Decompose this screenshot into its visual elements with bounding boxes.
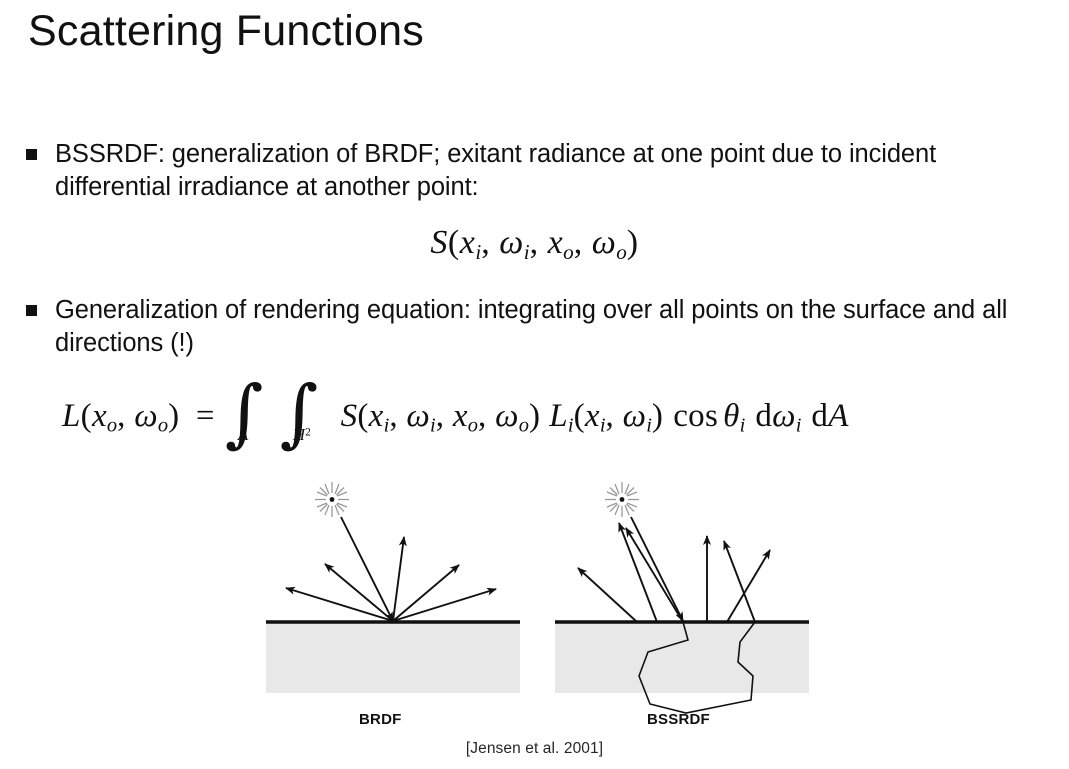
formula-s-paren-close: ) [627, 224, 639, 261]
square-bullet-icon [26, 305, 37, 316]
formula-l-s-omega-o: ω [495, 398, 519, 434]
bssrdf-exit-ray-1 [578, 568, 637, 622]
formula-l-comma-1: , [117, 398, 134, 434]
formula-l-s-paren-close: ) [529, 398, 540, 434]
formula-s-omega-i: ω [499, 224, 524, 261]
formula-s-omega-o: ω [592, 224, 617, 261]
formula-s-x-i: x [460, 224, 476, 261]
formula-l-d-omega-sub: i [796, 415, 802, 437]
formula-l-li-paren-close: ) [652, 398, 663, 434]
bullet-item-1-label: BSSRDF: generalization of BRDF; exitant … [55, 138, 1036, 204]
formula-l-cos: cos [673, 398, 718, 434]
formula-l-x-o-sub: o [107, 415, 117, 437]
formula-l-s-symbol: S [341, 398, 358, 434]
figure-citation: [Jensen et al. 2001] [0, 740, 1069, 758]
formula-scattering-function: S(xi, ωi, xo, ωo) [0, 224, 1069, 265]
bssrdf-exit-ray-2 [619, 523, 657, 622]
brdf-incident-ray [341, 517, 393, 621]
formula-l-s-comma-3: , [478, 398, 495, 434]
brdf-reflected-ray-5 [393, 589, 496, 621]
integral-limit-area: A [238, 426, 249, 443]
formula-l-d-omega: d [755, 398, 772, 434]
formula-l-paren-close: ) [168, 398, 179, 434]
formula-l-li-x-i: x [585, 398, 600, 434]
bssrdf-panel [555, 482, 809, 713]
formula-s-comma-3: , [574, 224, 592, 261]
formula-l-theta: θ [723, 398, 740, 434]
formula-l-s-comma-1: , [389, 398, 406, 434]
formula-l-li-omega-i: ω [623, 398, 647, 434]
brdf-reflected-ray-2 [325, 564, 393, 621]
bssrdf-incident-ray [631, 517, 683, 621]
formula-l-s-comma-2: , [436, 398, 453, 434]
bssrdf-exit-ray-6 [727, 550, 770, 622]
formula-l-equals: = [196, 398, 215, 434]
brdf-reflected-ray-3 [393, 537, 404, 621]
formula-l-li-comma: , [606, 398, 623, 434]
formula-s-omega-o-sub: o [616, 240, 627, 264]
brdf-panel [266, 482, 520, 693]
formula-s-comma-2: , [530, 224, 548, 261]
formula-l-symbol: L [62, 398, 81, 434]
formula-rendering-equation: L(xo, ωo) =∫A∫H2S(xi, ωi, xo, ωo)Li(xi, … [62, 398, 849, 438]
brdf-reflected-ray-4 [393, 565, 459, 621]
formula-l-s-paren-open: ( [357, 398, 368, 434]
formula-l-omega-o: ω [134, 398, 158, 434]
formula-l-theta-sub: i [740, 415, 746, 437]
formula-s-x-o: x [548, 224, 564, 261]
bullet-item-2-label: Generalization of rendering equation: in… [55, 294, 1036, 360]
starburst-core [330, 497, 335, 502]
formula-s-comma-1: , [481, 224, 499, 261]
caption-bssrdf: BSSRDF [647, 711, 710, 728]
brdf-reflected-ray-1 [286, 588, 393, 621]
brdf-material-block [266, 623, 520, 693]
formula-l-s-x-o-sub: o [468, 415, 478, 437]
formula-l-omega-o-sub: o [158, 415, 168, 437]
caption-brdf: BRDF [359, 711, 401, 728]
formula-l-paren-open: ( [81, 398, 92, 434]
formula-l-x-o: x [92, 398, 107, 434]
square-bullet-icon [26, 149, 37, 160]
scattering-diagram-figure [0, 470, 1069, 769]
formula-l-s-omega-o-sub: o [519, 415, 529, 437]
formula-l-d-area: d [811, 398, 828, 434]
formula-l-s-x-o: x [453, 398, 468, 434]
starburst-core [620, 497, 625, 502]
bullet-item-2: Generalization of rendering equation: in… [26, 294, 1036, 360]
formula-s-x-o-sub: o [563, 240, 574, 264]
formula-s-paren-open: ( [448, 224, 460, 261]
formula-l-s-x-i: x [369, 398, 384, 434]
integral-limit-hemisphere: H2 [293, 426, 311, 443]
integral-limit-h-exp: 2 [305, 427, 311, 439]
formula-l-s-omega-i: ω [406, 398, 430, 434]
formula-s-symbol: S [430, 224, 448, 261]
formula-l-li-paren-open: ( [574, 398, 585, 434]
bssrdf-exit-ray-3 [626, 528, 683, 622]
integral-limit-h: H [293, 425, 306, 444]
bullet-item-1: BSSRDF: generalization of BRDF; exitant … [26, 138, 1036, 204]
formula-l-li-symbol: L [549, 398, 568, 434]
formula-l-d-omega-var: ω [772, 398, 796, 434]
bssrdf-material-block [555, 623, 809, 693]
page-title: Scattering Functions [28, 8, 424, 55]
formula-l-d-area-var: A [828, 398, 848, 434]
